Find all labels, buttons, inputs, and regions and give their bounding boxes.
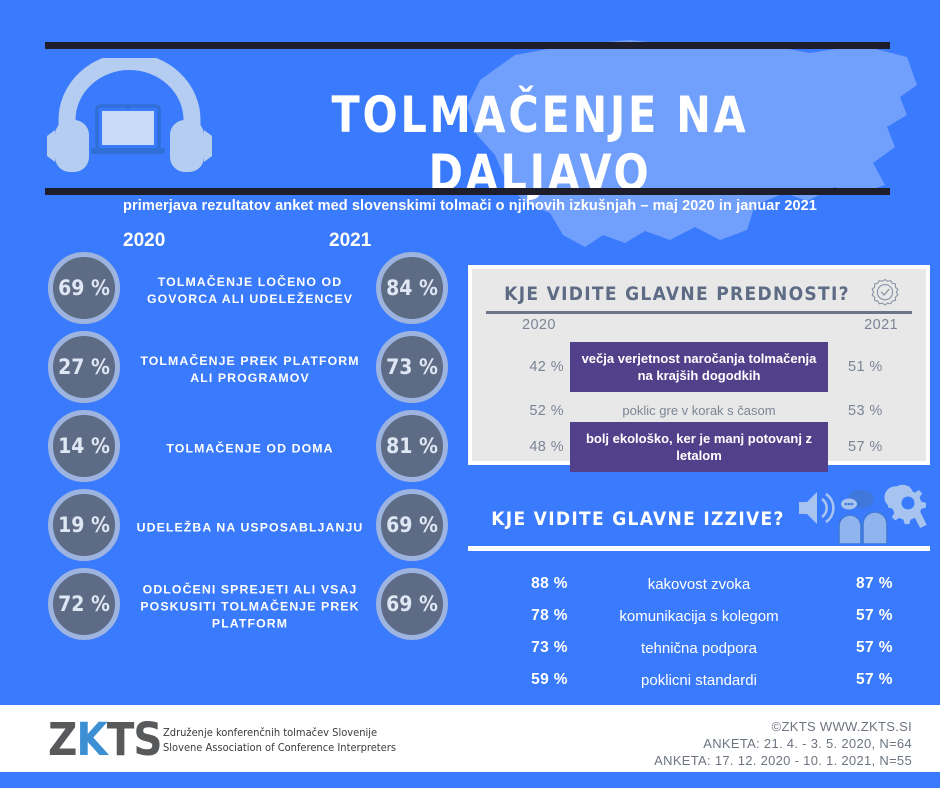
logo-letter-k: K <box>76 713 106 766</box>
stat-row: 69 % TOLMAČENJE LOČENO OD GOVORCA ALI UD… <box>0 252 460 330</box>
organisation-name-si: Združenje konferenčnih tolmačev Slovenij… <box>163 725 396 740</box>
challenges-pct-2020: 88 % <box>468 575 568 593</box>
header-rule-top <box>45 42 890 49</box>
stats-year-2020-label: 2020 <box>123 230 165 252</box>
challenges-icon-group <box>795 482 935 544</box>
advantages-row: 52 % poklic gre v korak s časom 53 % <box>472 397 926 424</box>
stat-circle-2021: 73 % <box>376 331 448 403</box>
check-badge-icon <box>869 278 901 310</box>
stat-circle-2020: 72 % <box>48 568 120 640</box>
page-title: TOLMAČENJE NA DALJAVO <box>255 86 825 202</box>
advantages-pct-2021: 53 % <box>834 403 926 419</box>
stat-label: TOLMAČENJE PREK PLATFORM ALI PROGRAMOV <box>130 353 370 387</box>
logo-letter-z: Z <box>48 713 76 766</box>
challenges-row: 73 % tehnična podpora 57 % <box>468 632 930 664</box>
stat-label: ODLOČENI SPREJETI ALI VSAJ POSKUSITI TOL… <box>130 582 370 633</box>
advantages-divider <box>486 311 912 314</box>
headphones-laptop-icon <box>47 58 212 183</box>
challenges-pct-2020: 78 % <box>468 607 568 625</box>
advantages-row: 42 % večja verjetnost naročanja tolmačen… <box>472 342 926 392</box>
stats-list: 69 % TOLMAČENJE LOČENO OD GOVORCA ALI UD… <box>0 252 460 647</box>
logo-letters-ts: TS <box>107 713 162 766</box>
advantages-pct-2020: 52 % <box>472 403 564 419</box>
stat-circle-2020: 27 % <box>48 331 120 403</box>
advantages-year-2020-label: 2020 <box>522 317 556 333</box>
advantages-year-2021-label: 2021 <box>864 317 898 333</box>
survey-2-text: ANKETA: 17. 12. 2020 - 10. 1. 2021, N=55 <box>654 752 912 769</box>
challenges-pct-2021: 57 % <box>830 607 930 625</box>
stat-circle-2020: 14 % <box>48 410 120 482</box>
footer-bar: ZKTS Združenje konferenčnih tolmačev Slo… <box>0 705 940 772</box>
challenges-pct-2021: 57 % <box>830 639 930 657</box>
challenges-list: 88 % kakovost zvoka 87 % 78 % komunikaci… <box>468 568 930 696</box>
zkts-logo: ZKTS <box>48 717 162 762</box>
stat-circle-2021: 81 % <box>376 410 448 482</box>
stat-circle-2020: 69 % <box>48 252 120 324</box>
stat-circle-2021: 69 % <box>376 568 448 640</box>
copyright-text: ©ZKTS WWW.ZKTS.SI <box>654 718 912 735</box>
challenges-divider <box>468 546 930 551</box>
survey-1-text: ANKETA: 21. 4. - 3. 5. 2020, N=64 <box>654 735 912 752</box>
challenges-row: 59 % poklicni standardi 57 % <box>468 664 930 696</box>
stat-row: 14 % TOLMAČENJE OD DOMA 81 % <box>0 410 460 488</box>
challenges-pct-2021: 87 % <box>830 575 930 593</box>
stat-circle-2020: 19 % <box>48 489 120 561</box>
challenges-pct-2021: 57 % <box>830 671 930 689</box>
challenges-label: kakovost zvoka <box>568 576 830 593</box>
speaker-icon <box>799 492 833 524</box>
challenges-label: komunikacija s kolegom <box>568 608 830 625</box>
organisation-name: Združenje konferenčnih tolmačev Slovenij… <box>163 725 396 755</box>
gear-icon <box>888 486 926 524</box>
header-rule-bottom <box>45 188 890 195</box>
advantages-panel: KJE VIDITE GLAVNE PREDNOSTI? 2020 2021 4… <box>468 265 930 465</box>
stat-row: 19 % UDELEŽBA NA USPOSABLJANJU 69 % <box>0 489 460 567</box>
stat-row: 27 % TOLMAČENJE PREK PLATFORM ALI PROGRA… <box>0 331 460 409</box>
advantages-row: 48 % bolj ekološko, ker je manj potovanj… <box>472 422 926 472</box>
stat-label: UDELEŽBA NA USPOSABLJANJU <box>130 520 370 537</box>
advantages-title: KJE VIDITE GLAVNE PREDNOSTI? <box>502 283 852 305</box>
stat-row: 72 % ODLOČENI SPREJETI ALI VSAJ POSKUSIT… <box>0 568 460 646</box>
challenges-title: KJE VIDITE GLAVNE IZZIVE? <box>468 508 808 530</box>
stat-label: TOLMAČENJE OD DOMA <box>130 441 370 458</box>
footer-meta: ©ZKTS WWW.ZKTS.SI ANKETA: 21. 4. - 3. 5.… <box>654 718 912 769</box>
people-talking-icon <box>839 490 887 544</box>
advantages-label: poklic gre v korak s časom <box>570 397 828 424</box>
challenges-pct-2020: 59 % <box>468 671 568 689</box>
challenges-label: tehnična podpora <box>568 640 830 657</box>
organisation-name-en: Slovene Association of Conference Interp… <box>163 740 396 755</box>
advantages-label: večja verjetnost naročanja tolmačenja na… <box>570 342 828 392</box>
challenges-row: 78 % komunikacija s kolegom 57 % <box>468 600 930 632</box>
challenges-pct-2020: 73 % <box>468 639 568 657</box>
challenges-row: 88 % kakovost zvoka 87 % <box>468 568 930 600</box>
advantages-pct-2020: 48 % <box>472 439 564 455</box>
advantages-pct-2021: 51 % <box>834 359 926 375</box>
stats-year-2021-label: 2021 <box>329 230 371 252</box>
advantages-label: bolj ekološko, ker je manj potovanj z le… <box>570 422 828 472</box>
page-subtitle: primerjava rezultatov anket med slovensk… <box>45 198 895 214</box>
challenges-label: poklicni standardi <box>568 672 830 689</box>
advantages-pct-2020: 42 % <box>472 359 564 375</box>
stat-label: TOLMAČENJE LOČENO OD GOVORCA ALI UDELEŽE… <box>130 274 370 308</box>
advantages-pct-2021: 57 % <box>834 439 926 455</box>
stat-circle-2021: 84 % <box>376 252 448 324</box>
stat-circle-2021: 69 % <box>376 489 448 561</box>
